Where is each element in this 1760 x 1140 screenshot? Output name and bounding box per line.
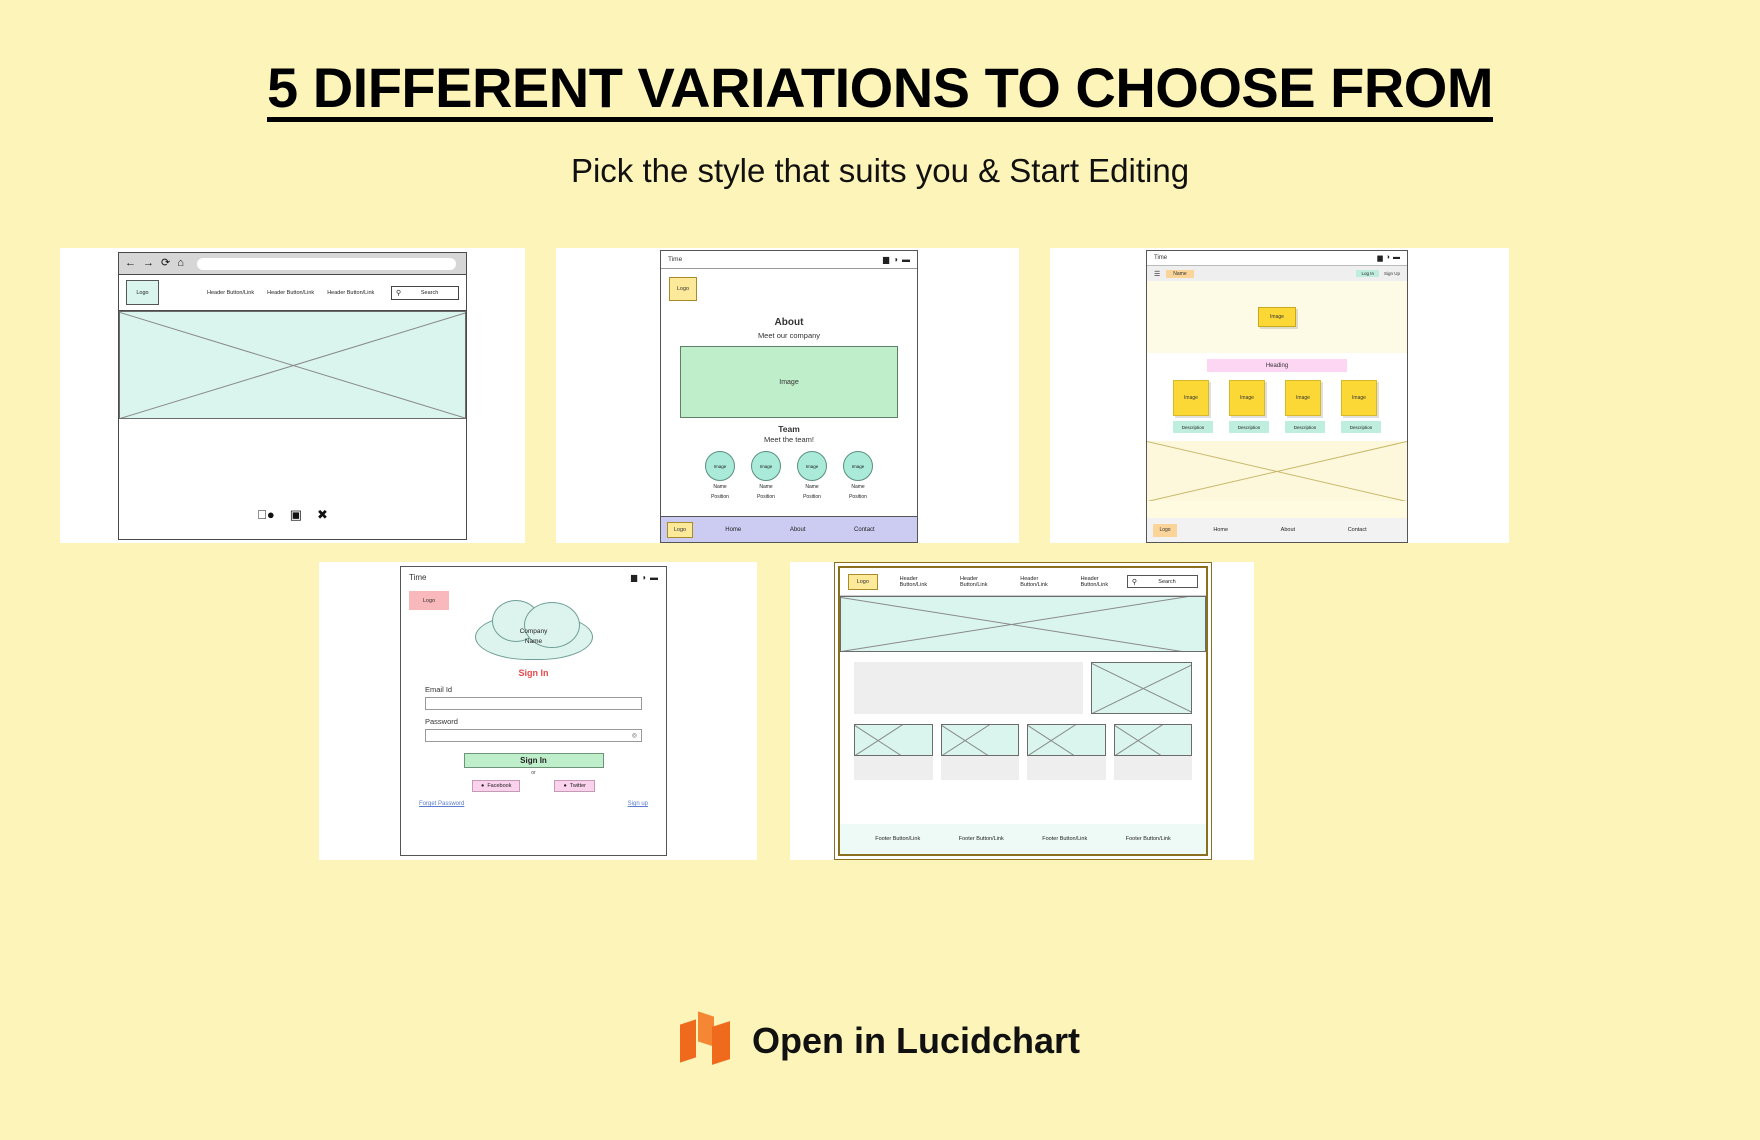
variation-4-mobile-signin[interactable]: Time ▆ ◑ ▬ Logo Company Name Sign In Ema…	[400, 566, 667, 856]
member-avatar: Image	[797, 451, 827, 481]
feature-text-placeholder	[854, 756, 933, 780]
variation-2-mobile-about[interactable]: Time ▆ ◑ ▬ Logo About Meet our company I…	[660, 250, 918, 543]
cta-label: Open in Lucidchart	[752, 1020, 1080, 1062]
lower-image-placeholder[interactable]	[1147, 441, 1407, 501]
footer-bar: Logo Home About Contact	[661, 516, 917, 542]
feature-text-placeholder	[941, 756, 1020, 780]
variation-3-tablet-yellow[interactable]: Time ▆ ◑ ▬ ☰ Name Log In Sign Up Image H…	[1146, 250, 1408, 543]
site-header-nav: Logo Header Button/Link Header Button/Li…	[840, 568, 1206, 596]
twitter-signin-button[interactable]: ● Twitter	[554, 780, 595, 792]
card-description: Description	[1341, 421, 1381, 433]
member-name: Name	[705, 484, 735, 491]
signin-heading: Sign In	[401, 668, 666, 678]
hero-area: Image	[1147, 281, 1407, 353]
footer-link-3[interactable]: Footer Button/Link	[1042, 836, 1087, 842]
card-image: Image	[1173, 380, 1209, 416]
footer-link-1[interactable]: Footer Button/Link	[875, 836, 920, 842]
logo-badge[interactable]: Logo	[126, 280, 159, 305]
x-twitter-icon[interactable]: ✖	[317, 507, 328, 523]
search-placeholder: Search	[1158, 579, 1175, 585]
logo-badge[interactable]: Logo	[848, 574, 878, 590]
member-avatar: Image	[751, 451, 781, 481]
member-avatar: Image	[705, 451, 735, 481]
content-section: Heading Image Description Image Descript…	[1147, 353, 1407, 441]
member-name: Name	[751, 484, 781, 491]
variation-5-desktop-landing[interactable]: Logo Header Button/Link Header Button/Li…	[838, 566, 1208, 856]
password-input[interactable]: ◎	[425, 729, 642, 742]
facebook-icon[interactable]: ●	[257, 507, 275, 523]
member-position: Position	[797, 494, 827, 501]
hero-image-placeholder[interactable]	[840, 596, 1206, 652]
auth-links-row: Forget Password Sign up	[401, 792, 666, 807]
member-avatar: Image	[843, 451, 873, 481]
logo-badge[interactable]: Logo	[409, 591, 449, 610]
brand-name-badge[interactable]: Name	[1166, 270, 1193, 278]
page-subtitle: Pick the style that suits you & Start Ed…	[0, 120, 1760, 190]
slide-canvas: 5 DIFFERENT VARIATIONS TO CHOOSE FROM Pi…	[0, 0, 1760, 1140]
logo-badge[interactable]: Logo	[669, 277, 697, 301]
facebook-icon: ●	[481, 783, 484, 789]
about-image-placeholder[interactable]: Image	[680, 346, 898, 418]
feature-image-placeholder	[1114, 724, 1193, 756]
search-box[interactable]: ⚲ Search	[391, 286, 459, 300]
company-name-cloud: Company Name	[475, 614, 593, 660]
footer-link-2[interactable]: Footer Button/Link	[959, 836, 1004, 842]
search-icon: ⚲	[1132, 578, 1137, 586]
footer-nav: Home About Contact	[1177, 527, 1407, 533]
email-label: Email Id	[425, 685, 642, 694]
card-description: Description	[1173, 421, 1213, 433]
footer-link-contact[interactable]: Contact	[1348, 527, 1367, 533]
member-position: Position	[843, 494, 873, 501]
social-signin-row: ● Facebook ● Twitter	[401, 780, 666, 792]
member-name: Name	[797, 484, 827, 491]
feature-image-placeholder	[1027, 724, 1106, 756]
member-name: Name	[843, 484, 873, 491]
member-position: Position	[705, 494, 735, 501]
browser-chrome-bar: ← → ⟳ ⌂	[119, 253, 466, 275]
instagram-icon[interactable]: ▣	[290, 507, 302, 523]
social-icon-row: ● ▣ ✖	[119, 419, 466, 523]
status-icons: ▆ ◑ ▬	[1377, 254, 1400, 262]
open-in-lucidchart-cta[interactable]: Open in Lucidchart	[0, 1014, 1760, 1068]
content-card[interactable]: Image Description	[1173, 380, 1213, 433]
search-icon: ⚲	[396, 289, 401, 297]
section-heading: Heading	[1207, 359, 1347, 372]
status-time: Time	[1154, 255, 1167, 261]
card-description: Description	[1285, 421, 1325, 433]
wifi-icon: ◑	[893, 255, 898, 264]
search-box[interactable]: ⚲ Search	[1127, 575, 1198, 588]
footer-logo[interactable]: Logo	[1153, 524, 1177, 537]
header-link-4[interactable]: Header Button/Link	[1081, 576, 1127, 588]
footer-bar: Footer Button/Link Footer Button/Link Fo…	[840, 824, 1206, 854]
forgot-password-link[interactable]: Forget Password	[419, 801, 464, 807]
feature-image-placeholder	[941, 724, 1020, 756]
card-grid: Image Description Image Description Imag…	[1147, 380, 1407, 433]
about-title: About	[661, 317, 917, 328]
twitter-icon: ●	[563, 783, 566, 789]
text-block-placeholder	[854, 662, 1083, 714]
header-links: Header Button/Link Header Button/Link He…	[207, 290, 374, 296]
password-visibility-icon[interactable]: ◎	[632, 732, 637, 739]
signal-icon: ▆	[1377, 254, 1382, 262]
email-field-group: Email Id	[425, 685, 642, 710]
card-image: Image	[1341, 380, 1377, 416]
footer-link-contact[interactable]: Contact	[854, 527, 875, 533]
search-placeholder: Search	[421, 290, 438, 296]
lucidchart-logo-icon	[680, 1014, 732, 1068]
footer-nav: Home About Contact	[693, 527, 917, 533]
variation-1-desktop-browser[interactable]: ← → ⟳ ⌂ Logo Header Button/Link Header B…	[118, 252, 467, 540]
signin-submit-button[interactable]: Sign In	[464, 753, 604, 768]
or-divider-label: or	[401, 770, 666, 776]
member-position: Position	[751, 494, 781, 501]
header-link-2[interactable]: Header Button/Link	[960, 576, 1006, 588]
hero-image-placeholder[interactable]: Image	[1258, 307, 1296, 327]
forward-icon[interactable]: →	[143, 258, 154, 269]
page-title: 5 DIFFERENT VARIATIONS TO CHOOSE FROM	[0, 0, 1760, 120]
facebook-signin-button[interactable]: ● Facebook	[472, 780, 520, 792]
wifi-icon: ◑	[641, 573, 646, 582]
status-bar: Time ▆ ◑ ▬	[401, 567, 666, 587]
footer-link-about[interactable]: About	[1281, 527, 1295, 533]
feature-row-secondary	[840, 714, 1206, 780]
password-field-group: Password ◎	[425, 717, 642, 742]
feature-text-placeholder	[1027, 756, 1106, 780]
card-image: Image	[1285, 380, 1321, 416]
team-member[interactable]: Image Name Position	[797, 451, 827, 501]
team-title: Team	[661, 424, 917, 434]
hero-image-placeholder[interactable]	[119, 311, 466, 419]
content-card[interactable]: Image Description	[1341, 380, 1381, 433]
status-icons: ▆ ◑ ▬	[631, 573, 658, 582]
feature-cell[interactable]	[854, 724, 933, 780]
feature-cell[interactable]	[941, 724, 1020, 780]
signup-link[interactable]: Sign up	[628, 801, 648, 807]
url-input[interactable]	[197, 258, 456, 270]
hamburger-icon[interactable]: ☰	[1154, 270, 1160, 278]
signup-link[interactable]: Sign Up	[1384, 271, 1400, 276]
login-button[interactable]: Log In	[1356, 270, 1379, 277]
company-name-line1: Company	[520, 627, 548, 637]
team-member[interactable]: Image Name Position	[751, 451, 781, 501]
card-description: Description	[1229, 421, 1269, 433]
footer-link-about[interactable]: About	[790, 527, 806, 533]
header-link-2[interactable]: Header Button/Link	[267, 290, 314, 296]
reload-icon[interactable]: ⟳	[161, 258, 170, 269]
battery-icon: ▬	[650, 573, 658, 582]
header-link-3[interactable]: Header Button/Link	[327, 290, 374, 296]
header-link-1[interactable]: Header Button/Link	[900, 576, 946, 588]
footer-link-home[interactable]: Home	[1213, 527, 1228, 533]
feature-text-placeholder	[1114, 756, 1193, 780]
facebook-label: Facebook	[487, 783, 511, 789]
feature-row-primary	[840, 652, 1206, 714]
feature-cell[interactable]	[1027, 724, 1106, 780]
team-member-row: Image Name Position Image Name Position …	[661, 451, 917, 501]
signal-icon: ▆	[883, 255, 889, 264]
back-icon[interactable]: ←	[125, 258, 136, 269]
status-time: Time	[668, 256, 682, 263]
feature-image-placeholder	[854, 724, 933, 756]
feature-cell[interactable]	[1114, 724, 1193, 780]
wifi-icon: ◑	[1386, 254, 1390, 262]
header-link-1[interactable]: Header Button/Link	[207, 290, 254, 296]
team-member[interactable]: Image Name Position	[705, 451, 735, 501]
content-card[interactable]: Image Description	[1285, 380, 1325, 433]
footer-logo[interactable]: Logo	[667, 522, 693, 538]
header-links: Header Button/Link Header Button/Link He…	[900, 576, 1127, 588]
about-subtitle: Meet our company	[661, 331, 917, 340]
status-bar: Time ▆ ◑ ▬	[1147, 251, 1407, 266]
top-bar-actions: Log In Sign Up	[1356, 270, 1400, 277]
twitter-label: Twitter	[570, 783, 586, 789]
page-body-area: ● ▣ ✖	[119, 419, 466, 539]
email-input[interactable]	[425, 697, 642, 710]
thumbnail-image-placeholder[interactable]	[1091, 662, 1192, 714]
status-bar: Time ▆ ◑ ▬	[661, 251, 917, 269]
battery-icon: ▬	[902, 255, 910, 264]
status-time: Time	[409, 573, 426, 582]
card-image: Image	[1229, 380, 1265, 416]
footer-bar: Logo Home About Contact	[1147, 518, 1407, 542]
logo-bar-left	[680, 1019, 696, 1062]
footer-link-4[interactable]: Footer Button/Link	[1126, 836, 1171, 842]
home-icon[interactable]: ⌂	[177, 258, 184, 269]
app-top-bar: ☰ Name Log In Sign Up	[1147, 266, 1407, 281]
team-member[interactable]: Image Name Position	[843, 451, 873, 501]
site-header-nav: Logo Header Button/Link Header Button/Li…	[119, 275, 466, 311]
header-link-3[interactable]: Header Button/Link	[1020, 576, 1066, 588]
logo-bar-right	[712, 1021, 730, 1065]
password-label: Password	[425, 717, 642, 726]
team-subtitle: Meet the team!	[661, 435, 917, 444]
footer-link-home[interactable]: Home	[725, 527, 741, 533]
content-card[interactable]: Image Description	[1229, 380, 1269, 433]
company-name-line2: Name	[525, 637, 542, 647]
battery-icon: ▬	[1393, 254, 1400, 262]
signal-icon: ▆	[631, 573, 637, 582]
status-icons: ▆ ◑ ▬	[883, 255, 910, 264]
